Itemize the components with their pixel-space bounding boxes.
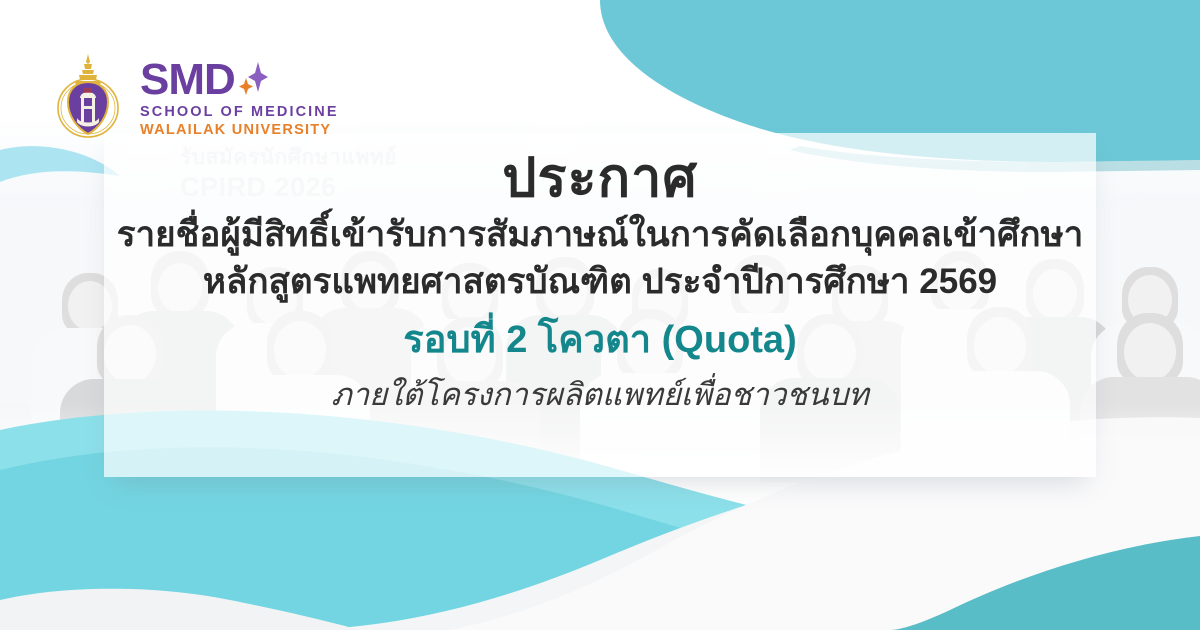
admission-round-label: รอบที่ 2 โควตา (Quota) [0,316,1200,365]
headline-line-1: รายชื่อผู้มีสิทธิ์เข้ารับการสัมภาษณ์ในกา… [0,212,1200,259]
smd-brand-text: SMD [140,60,235,100]
wave-bottom-left-notch [0,589,360,630]
wave-bottom-right [890,536,1200,630]
page-title: ประกาศ [0,148,1200,208]
announcement-banner: รับสมัครนักศึกษาแพทย์ CPIRD 2026 [0,0,1200,630]
smd-logo[interactable]: SMD SCHOOL OF MEDICINE WALAILAK UNIVERSI… [50,52,339,142]
headline-block: ประกาศ รายชื่อผู้มีสิทธิ์เข้ารับการสัมภา… [0,148,1200,415]
headline-line-2: หลักสูตรแพทยศาสตรบัณฑิต ประจำปีการศึกษา … [0,259,1200,306]
smd-university-line: WALAILAK UNIVERSITY [140,122,339,138]
program-subtitle: ภายใต้โครงการผลิตแพทย์เพื่อชาวชนบท [0,375,1200,415]
walailak-university-crest-icon [50,52,126,142]
sparkle-icon [238,60,268,100]
smd-wordmark: SMD SCHOOL OF MEDICINE WALAILAK UNIVERSI… [140,56,339,138]
smd-school-line: SCHOOL OF MEDICINE [140,104,339,120]
